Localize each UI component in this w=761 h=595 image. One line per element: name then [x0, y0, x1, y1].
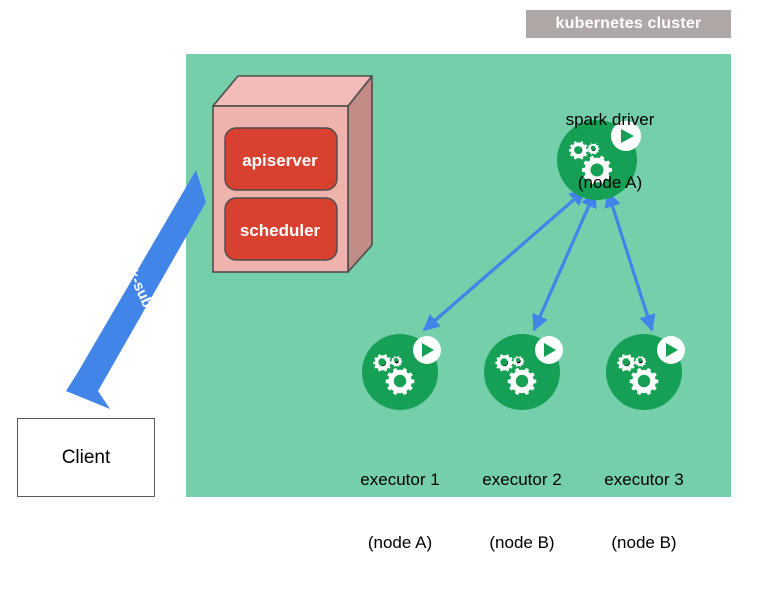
executor-2-label-line2: (node B)	[462, 532, 582, 553]
diagram-canvas: kubernetes cluster Client apiserver sche…	[0, 0, 761, 516]
executor-3-label-line2: (node B)	[584, 532, 704, 553]
executor-2-gear-hole-small	[516, 358, 520, 362]
executor-1-gear-hole-big	[394, 375, 406, 387]
executor-1-label-line2: (node A)	[340, 532, 460, 553]
client-box[interactable]: Client	[17, 418, 155, 497]
driver-gear-hole-small	[591, 146, 596, 151]
box-side-face	[348, 76, 372, 272]
executor-1-gear-hole-small	[394, 358, 398, 362]
box-top-face	[213, 76, 372, 106]
kubernetes-cluster-banner: kubernetes cluster	[526, 10, 731, 38]
spark-submit-arrow	[66, 170, 206, 409]
apiserver-label: apiserver	[220, 151, 340, 171]
driver-gear-hole-big	[591, 164, 604, 177]
client-label: Client	[62, 447, 111, 469]
scheduler-label: scheduler	[220, 221, 340, 241]
executor-3-gear-hole-mid	[622, 358, 629, 365]
driver-gear-hole-mid	[574, 146, 582, 154]
executor-3-gear-hole-small	[638, 358, 642, 362]
executor-3-gear-hole-big	[638, 375, 650, 387]
executor-1-gear-hole-mid	[378, 358, 385, 365]
executor-2-gear-hole-big	[516, 375, 528, 387]
control-plane-box	[213, 76, 372, 272]
executor-2-gear-hole-mid	[500, 358, 507, 365]
